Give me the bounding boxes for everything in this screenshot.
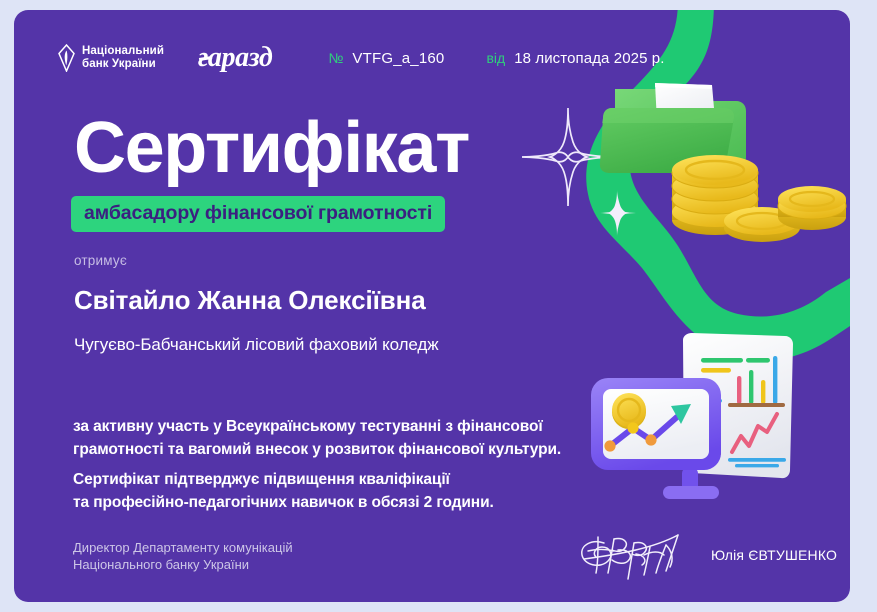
- monitor-growth-chart-illustration: [579, 322, 850, 517]
- nbu-logo: Національний банк України: [58, 44, 164, 72]
- certificate-body-paragraph-1: за активну участь у Всеукраїнському тест…: [73, 416, 561, 461]
- handwritten-signature-icon: [574, 529, 704, 581]
- nbu-hryvnia-mark-icon: [58, 44, 75, 72]
- document-meta: № VTFG_a_160 від 18 листопада 2025 р.: [328, 50, 664, 67]
- certificate-page: Національний банк України гаразд № VTFG_…: [0, 0, 877, 612]
- certificate-card: Національний банк України гаразд № VTFG_…: [14, 10, 850, 602]
- certificate-subtitle-badge: амбасадору фінансової грамотності: [71, 196, 445, 232]
- certificate-header: Національний банк України гаразд № VTFG_…: [58, 38, 665, 78]
- nbu-logo-label: Національний банк України: [82, 45, 164, 72]
- receives-label: отримує: [74, 253, 127, 268]
- page-title: Сертифікат: [74, 109, 469, 187]
- four-point-sparkle-filled-icon: [608, 190, 627, 236]
- recipient-institution: Чугуєво-Бабчанський лісовий фаховий коле…: [74, 335, 439, 355]
- folder-with-coins-illustration: [584, 65, 850, 260]
- signer-role: Директор Департаменту комунікацій Націон…: [73, 539, 293, 573]
- date-label: від: [486, 50, 505, 66]
- partner-logo: гаразд: [198, 42, 272, 74]
- sparkle-cluster: [494, 100, 654, 240]
- signer-name: Юлія ЄВТУШЕНКО: [711, 547, 837, 563]
- recipient-name: Світайло Жанна Олексіївна: [74, 285, 426, 316]
- signature-block: Юлія ЄВТУШЕНКО: [574, 529, 836, 581]
- certificate-body-paragraph-2: Сертифікат підтверджує підвищення кваліф…: [73, 469, 494, 514]
- certificate-date: 18 листопада 2025 р.: [514, 50, 664, 67]
- certificate-number: VTFG_a_160: [352, 50, 444, 67]
- number-label: №: [328, 50, 343, 66]
- four-point-sparkle-outline-icon: [522, 108, 614, 206]
